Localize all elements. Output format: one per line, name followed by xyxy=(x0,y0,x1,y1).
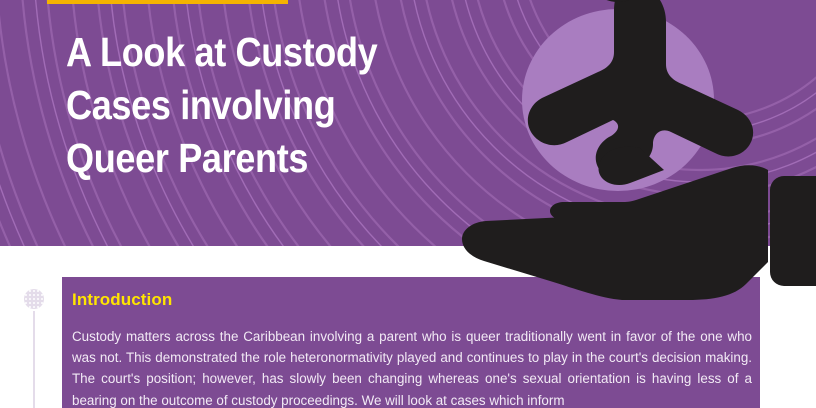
header-banner: A Look at Custody Cases involving Queer … xyxy=(0,0,816,246)
poster-page: A Look at Custody Cases involving Queer … xyxy=(0,0,816,408)
section-heading: Introduction xyxy=(72,290,172,310)
section-body-text: Custody matters across the Caribbean inv… xyxy=(72,326,752,408)
timeline-dot xyxy=(24,289,44,309)
accent-bar xyxy=(47,0,288,4)
sleeve-cuff xyxy=(770,176,816,286)
introduction-card: Introduction Custody matters across the … xyxy=(62,277,760,408)
timeline-line xyxy=(33,311,35,408)
page-title: A Look at Custody Cases involving Queer … xyxy=(66,26,436,185)
